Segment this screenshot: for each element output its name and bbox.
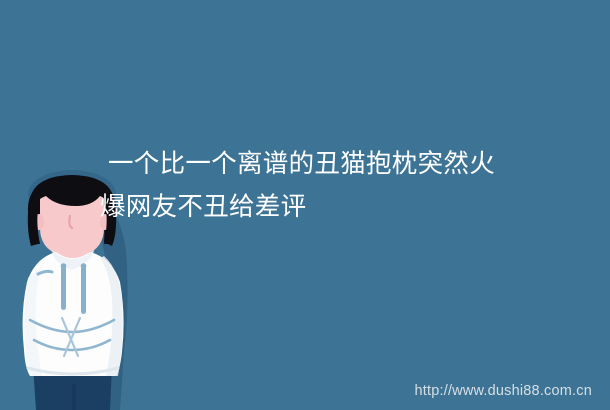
headline-line-2: 爆网友不丑给差评 [100,186,600,229]
hoodie [23,250,124,376]
headline-line-1: 一个比一个离谱的丑猫抱枕突然火 [100,143,600,186]
source-url-watermark: http://www.dushi88.com.cn [415,383,592,399]
headline: 一个比一个离谱的丑猫抱枕突然火 爆网友不丑给差评 [100,143,600,229]
image-canvas: 一个比一个离谱的丑猫抱枕突然火 爆网友不丑给差评 http://www.dush… [0,0,610,410]
